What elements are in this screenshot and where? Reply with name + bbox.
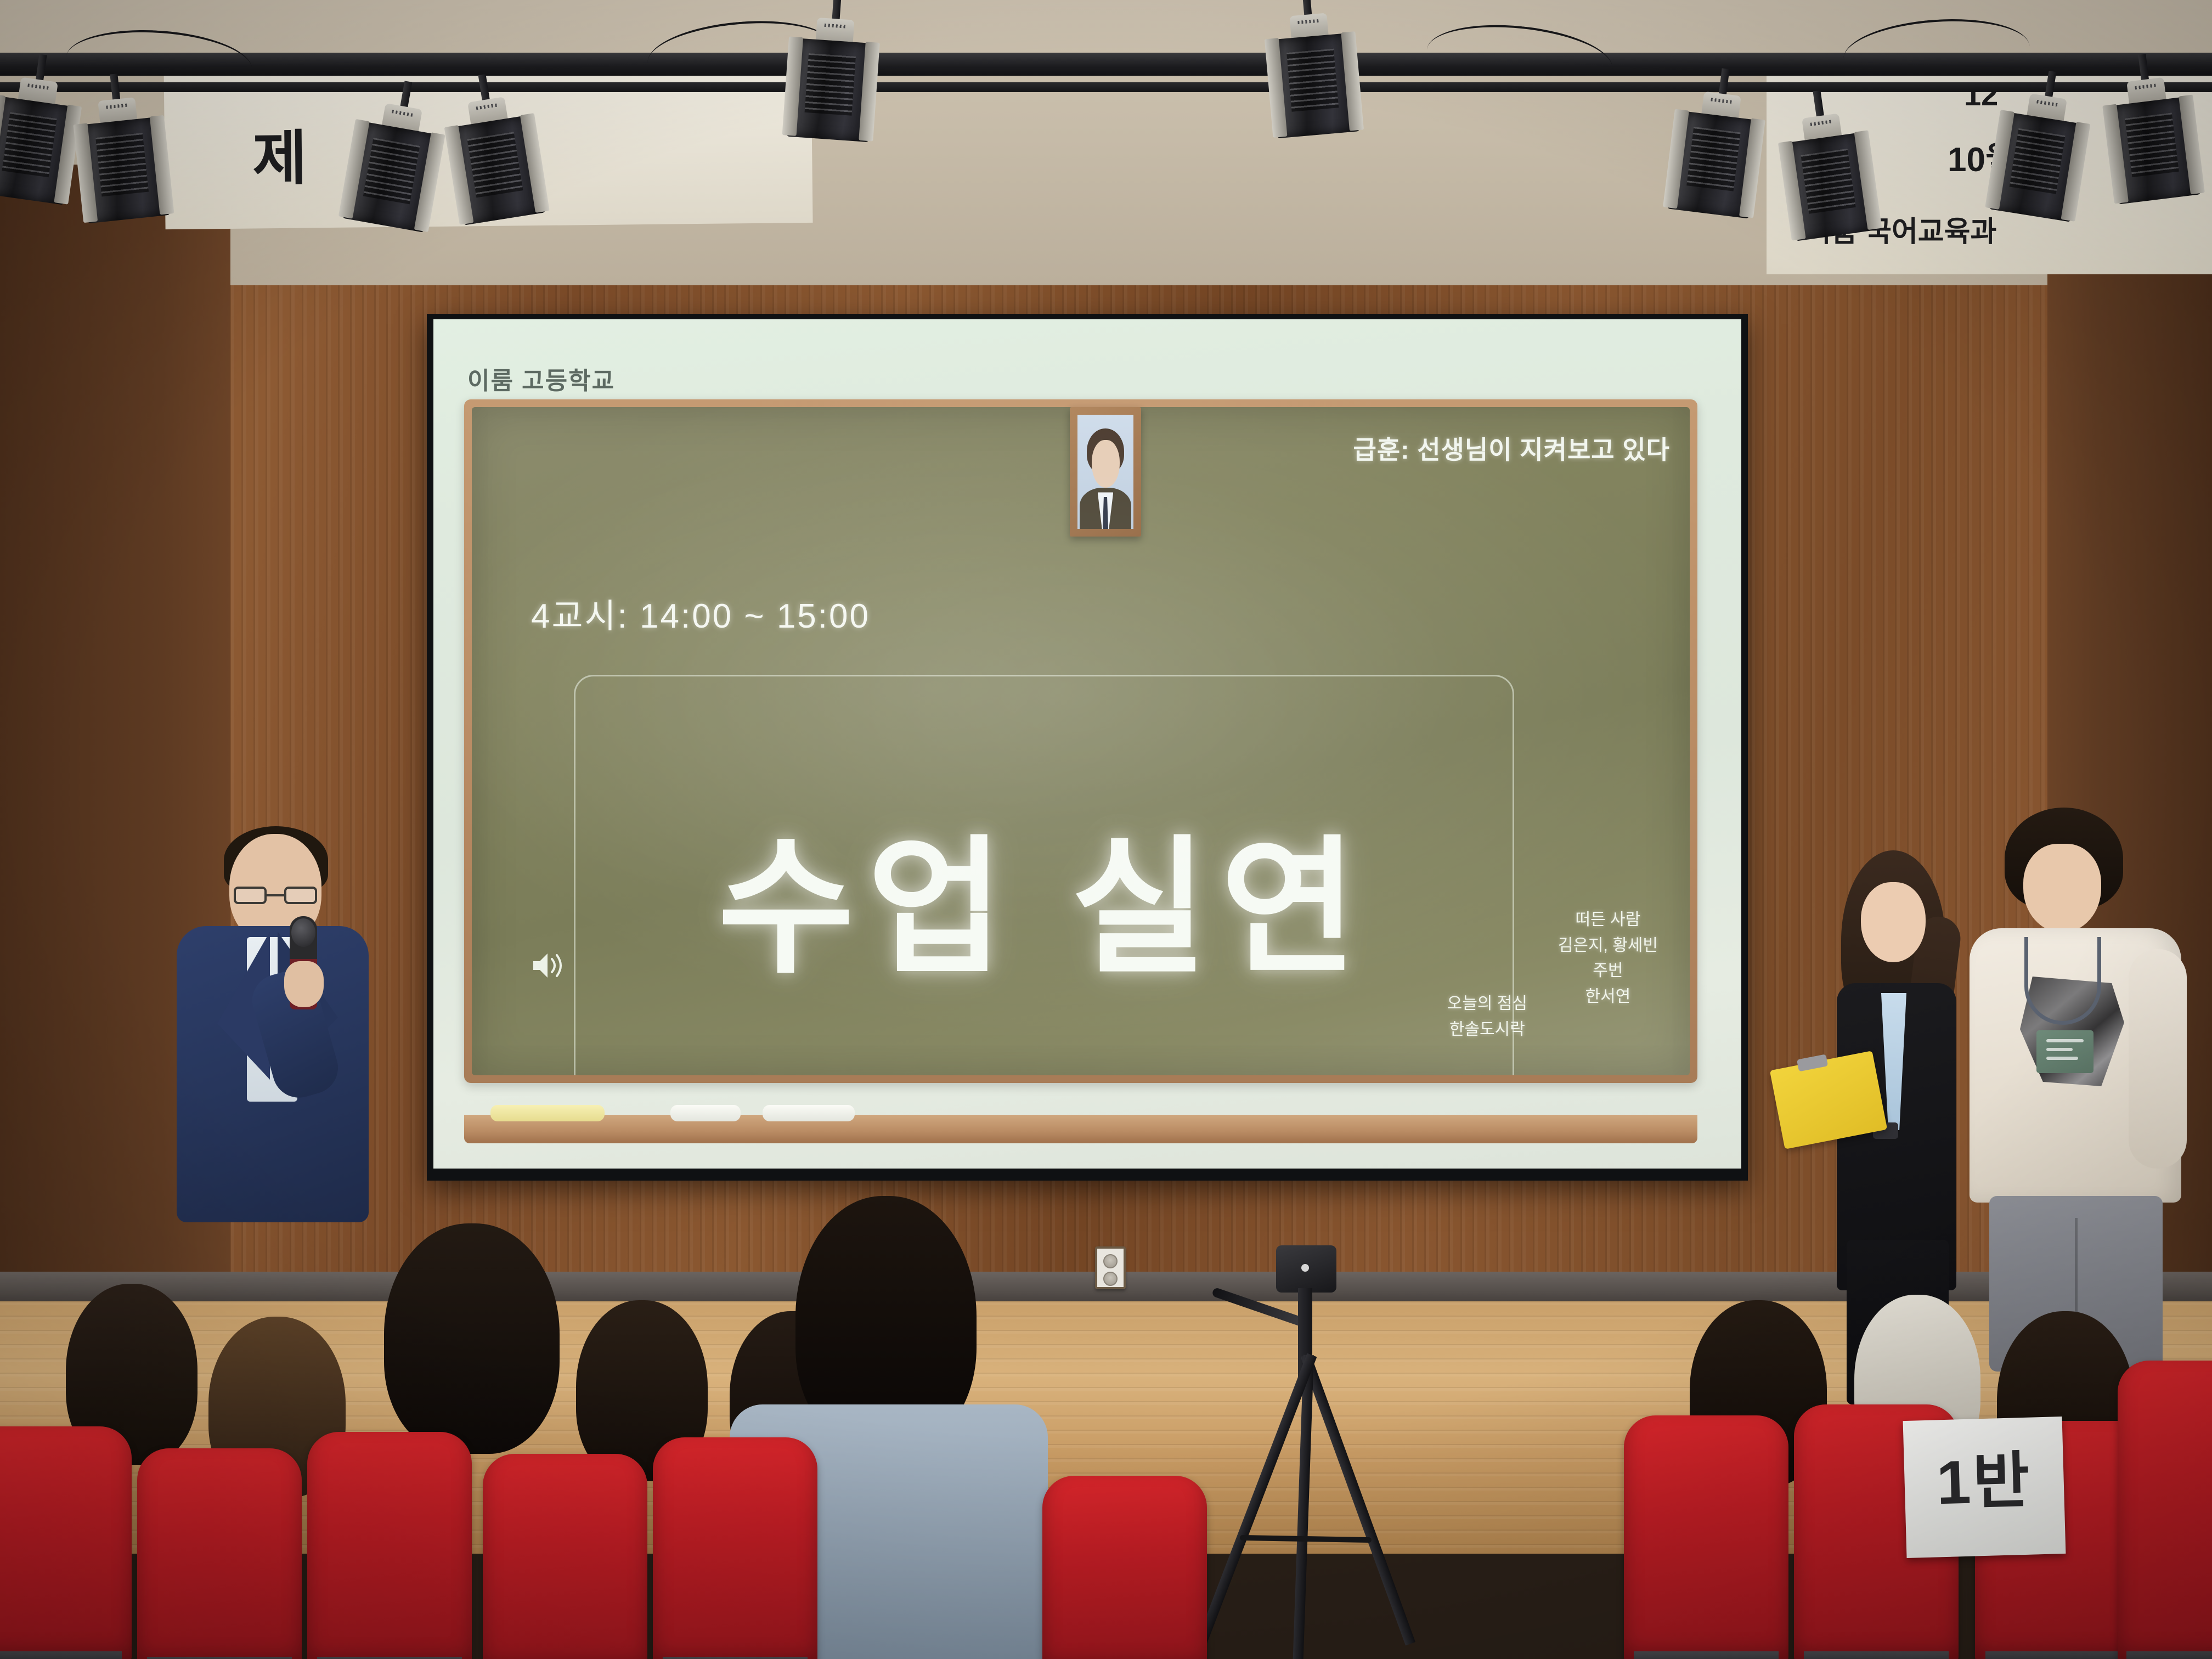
- stage-light-icon: [1666, 98, 1762, 225]
- camera-tripod: [1223, 1245, 1388, 1659]
- portrait-photo: [1077, 415, 1133, 529]
- name-badge: [2036, 1030, 2093, 1073]
- slide-lunch-notes: 오늘의 점심 한솔도시락: [1447, 991, 1527, 1042]
- chalk-tray: [464, 1115, 1697, 1143]
- stage-light-icon: [447, 102, 546, 232]
- student-head: [2023, 844, 2101, 933]
- auditorium-scene: 제 12 10월 이룸 국어교육과: [0, 0, 2212, 1659]
- auditorium-seat: [483, 1454, 647, 1659]
- stage-light-truss: 제 12 10월 이룸 국어교육과: [0, 0, 2212, 165]
- class-number-sign-label: 1반: [1936, 1431, 2033, 1522]
- tripod-brace: [1240, 1535, 1372, 1543]
- banner-left-text: 제: [252, 110, 307, 196]
- projection-screen: 이룸 고등학교 급훈: 선생님이 지켜보고 있다 4교시: 14:00 ~ 15…: [433, 319, 1741, 1169]
- auditorium-seat: [1042, 1476, 1207, 1659]
- slide-main-title: 수업 실연: [574, 675, 1514, 1075]
- stage-light-icon: [1781, 119, 1878, 247]
- stage-light-icon: [341, 108, 443, 239]
- auditorium-seat: [1624, 1415, 1788, 1659]
- tripod-pan-handle: [1211, 1287, 1306, 1327]
- auditorium-seat: [653, 1437, 817, 1659]
- tripod-head: [1276, 1245, 1336, 1293]
- auditorium-seat: [0, 1426, 132, 1659]
- projection-screen-frame: 이룸 고등학교 급훈: 선생님이 지켜보고 있다 4교시: 14:00 ~ 15…: [427, 314, 1748, 1181]
- presenter-with-microphone: [165, 834, 373, 1218]
- yellow-chalk: [490, 1105, 605, 1121]
- slide-title-outline: [574, 675, 1514, 1075]
- framed-portrait-photo: [1070, 407, 1141, 537]
- auditorium-seat: [307, 1432, 472, 1659]
- presenter-hand: [284, 961, 324, 1007]
- slide-school-name: 이룸 고등학교: [467, 361, 615, 396]
- stage-light-icon: [0, 83, 79, 211]
- stage-light-icon: [76, 104, 171, 230]
- eyeglasses-icon: [234, 887, 317, 905]
- volume-speaker-icon: [531, 949, 568, 982]
- truss-beam-lower: [0, 82, 2212, 92]
- auditorium-seat: [137, 1448, 302, 1659]
- student-in-sweatshirt: [1964, 812, 2183, 1361]
- stage-light-icon: [2105, 83, 2201, 211]
- student-arm: [2129, 949, 2187, 1169]
- assistant-with-clipboard: [1827, 856, 1975, 1333]
- slide-duty-notes: 떠든 사람 김은지, 황세빈 주번 한서연: [1558, 907, 1658, 1009]
- slide-class-motto: 급훈: 선생님이 지켜보고 있다: [1353, 430, 1671, 466]
- lanyard-cord: [2024, 937, 2101, 1025]
- audience-head: [384, 1223, 560, 1454]
- stage-light-icon: [1268, 20, 1360, 144]
- assistant-head: [1861, 882, 1926, 962]
- slide-period-time: 4교시: 14:00 ~ 15:00: [531, 588, 870, 637]
- stage-light-icon: [1988, 99, 2088, 228]
- stage-light-icon: [786, 25, 877, 148]
- white-chalk: [763, 1105, 855, 1121]
- class-number-sign: 1반: [1903, 1417, 2066, 1558]
- wall-power-outlet: [1095, 1246, 1126, 1289]
- auditorium-seat: [2118, 1361, 2212, 1659]
- chalkboard-frame: 급훈: 선생님이 지켜보고 있다 4교시: 14:00 ~ 15:00 수업 실…: [464, 399, 1697, 1083]
- white-chalk: [670, 1105, 741, 1121]
